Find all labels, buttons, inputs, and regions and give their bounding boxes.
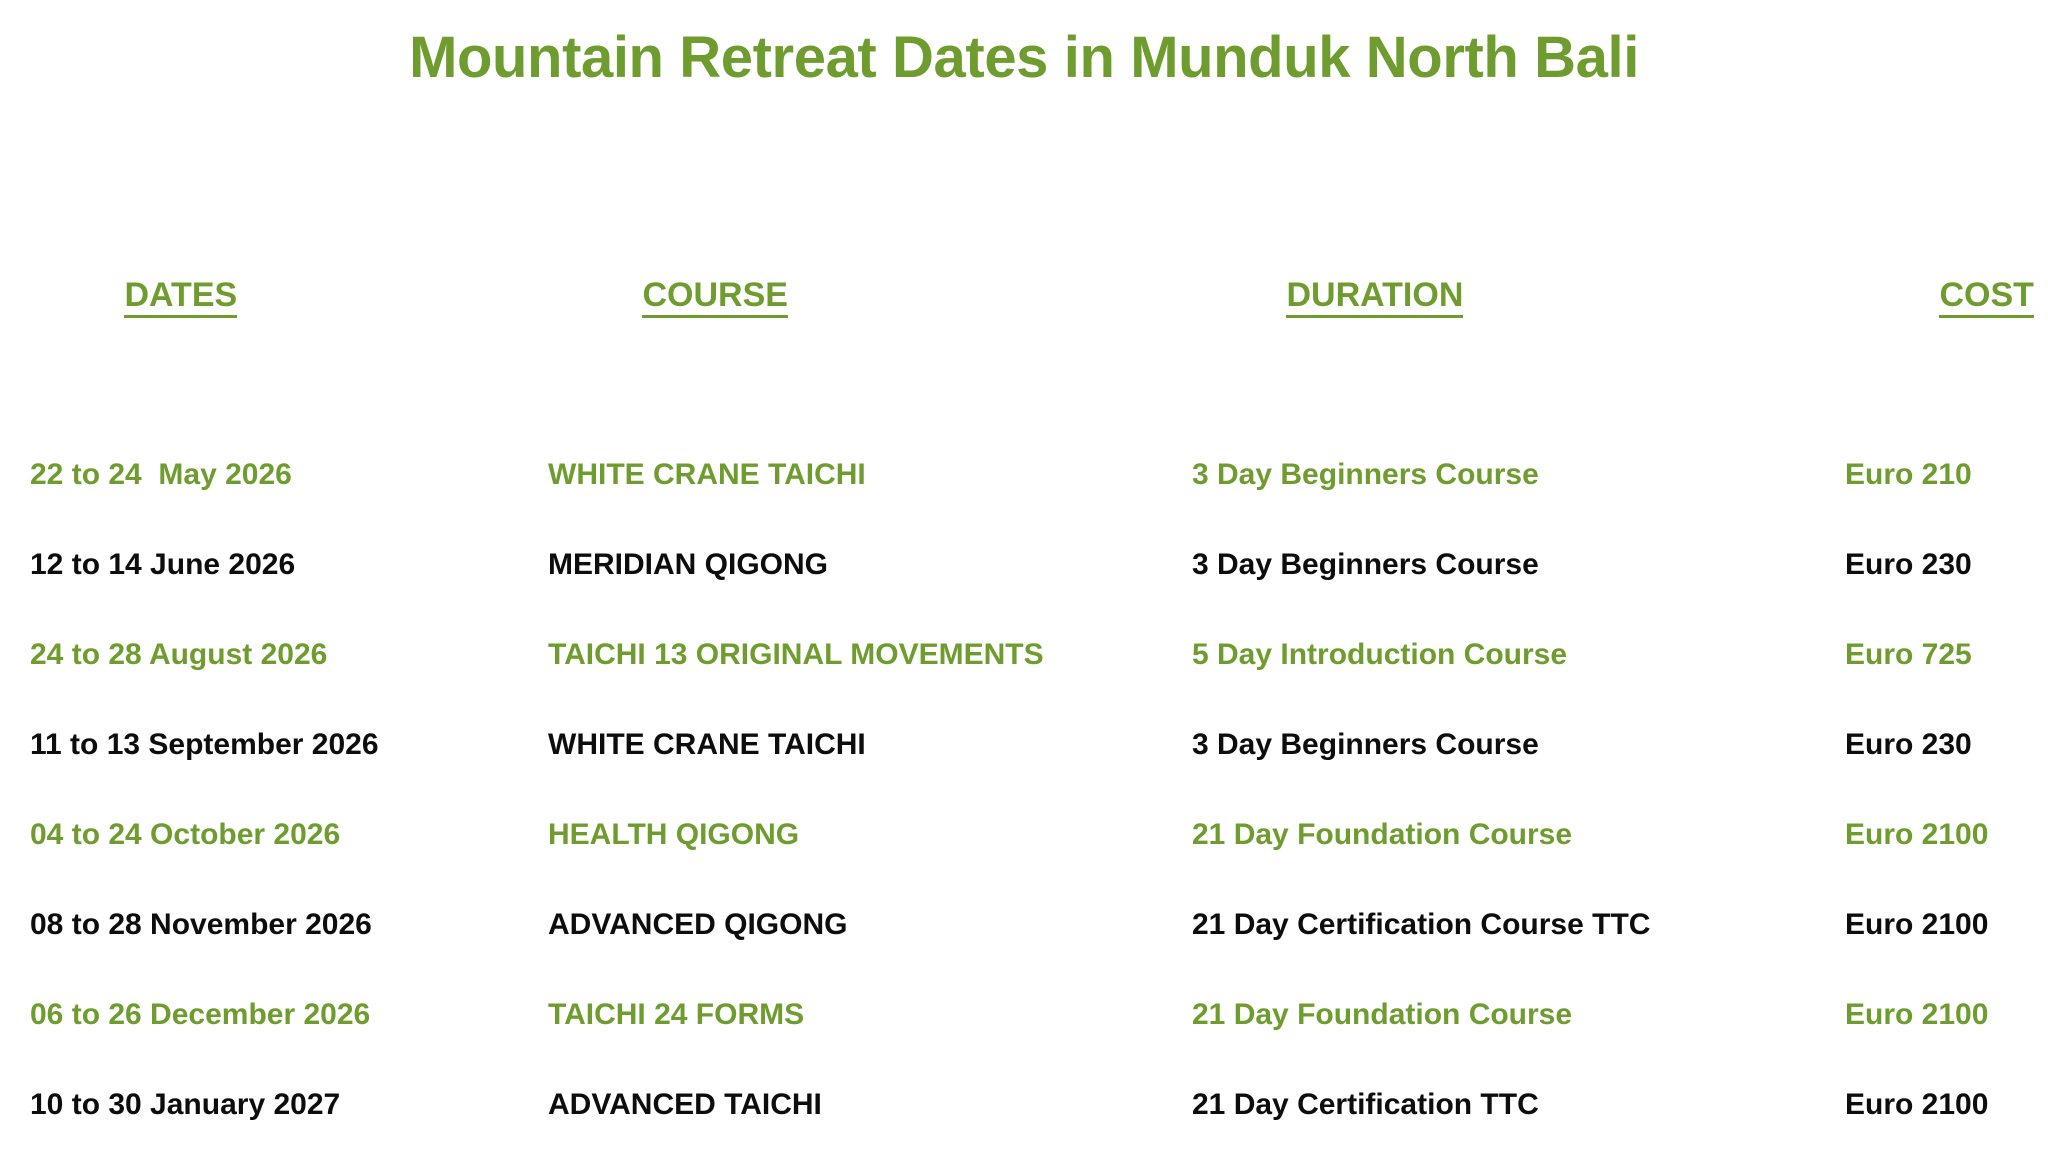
cell-duration: 21 Day Foundation Course (1162, 970, 1818, 1060)
cell-course: TAICHI 24 FORMS (519, 970, 1162, 1060)
cell-dates: 24 to 28 August 2026 (0, 610, 519, 700)
cell-duration: 21 Day Certification TTC (1162, 1060, 1818, 1150)
table-row: 24 to 28 August 2026 TAICHI 13 ORIGINAL … (0, 610, 2048, 700)
cell-cost: Euro 210 (1818, 430, 2048, 520)
cell-dates: 12 to 14 June 2026 (0, 520, 519, 610)
cell-cost: Euro 2100 (1818, 790, 2048, 880)
cell-dates: 04 to 24 October 2026 (0, 790, 519, 880)
cell-cost: Euro 725 (1818, 610, 2048, 700)
table-row: 10 to 30 January 2027 ADVANCED TAICHI 21… (0, 1060, 2048, 1150)
cell-cost: Euro 2100 (1818, 880, 2048, 970)
table-header-row: DATES COURSE DURATION COST (0, 160, 2048, 430)
column-header-duration-label: DURATION (1286, 278, 1463, 318)
cell-duration: 21 Day Certification Course TTC (1162, 880, 1818, 970)
cell-cost: Euro 230 (1818, 700, 2048, 790)
cell-duration: 5 Day Introduction Course (1162, 610, 1818, 700)
retreat-schedule-table: DATES COURSE DURATION COST 22 to 24 May … (0, 160, 2048, 1150)
cell-dates: 22 to 24 May 2026 (0, 430, 519, 520)
table-row: 11 to 13 September 2026 WHITE CRANE TAIC… (0, 700, 2048, 790)
table-row: 12 to 14 June 2026 MERIDIAN QIGONG 3 Day… (0, 520, 2048, 610)
column-header-dates-label: DATES (124, 278, 237, 318)
cell-dates: 08 to 28 November 2026 (0, 880, 519, 970)
table-row: 22 to 24 May 2026 WHITE CRANE TAICHI 3 D… (0, 430, 2048, 520)
table-row: 04 to 24 October 2026 HEALTH QIGONG 21 D… (0, 790, 2048, 880)
cell-cost: Euro 2100 (1818, 1060, 2048, 1150)
table-row: 08 to 28 November 2026 ADVANCED QIGONG 2… (0, 880, 2048, 970)
cell-duration: 3 Day Beginners Course (1162, 520, 1818, 610)
cell-course: WHITE CRANE TAICHI (519, 430, 1162, 520)
cell-course: WHITE CRANE TAICHI (519, 700, 1162, 790)
retreat-schedule-page: Mountain Retreat Dates in Munduk North B… (0, 0, 2048, 999)
cell-course: ADVANCED TAICHI (519, 1060, 1162, 1150)
cell-duration: 3 Day Beginners Course (1162, 700, 1818, 790)
cell-course: HEALTH QIGONG (519, 790, 1162, 880)
cell-course: ADVANCED QIGONG (519, 880, 1162, 970)
cell-duration: 3 Day Beginners Course (1162, 430, 1818, 520)
cell-course: TAICHI 13 ORIGINAL MOVEMENTS (519, 610, 1162, 700)
cell-cost: Euro 230 (1818, 520, 2048, 610)
column-header-duration: DURATION (1162, 160, 1818, 430)
column-header-course: COURSE (519, 160, 1162, 430)
cell-dates: 11 to 13 September 2026 (0, 700, 519, 790)
cell-cost: Euro 2100 (1818, 970, 2048, 1060)
page-title: Mountain Retreat Dates in Munduk North B… (0, 22, 2048, 94)
cell-dates: 10 to 30 January 2027 (0, 1060, 519, 1150)
cell-dates: 06 to 26 December 2026 (0, 970, 519, 1060)
column-header-course-label: COURSE (642, 278, 787, 318)
cell-course: MERIDIAN QIGONG (519, 520, 1162, 610)
column-header-cost-label: COST (1939, 278, 2033, 318)
cell-duration: 21 Day Foundation Course (1162, 790, 1818, 880)
table-body: 22 to 24 May 2026 WHITE CRANE TAICHI 3 D… (0, 430, 2048, 1150)
column-header-cost: COST (1818, 160, 2048, 430)
table-row: 06 to 26 December 2026 TAICHI 24 FORMS 2… (0, 970, 2048, 1060)
column-header-dates: DATES (0, 160, 519, 430)
